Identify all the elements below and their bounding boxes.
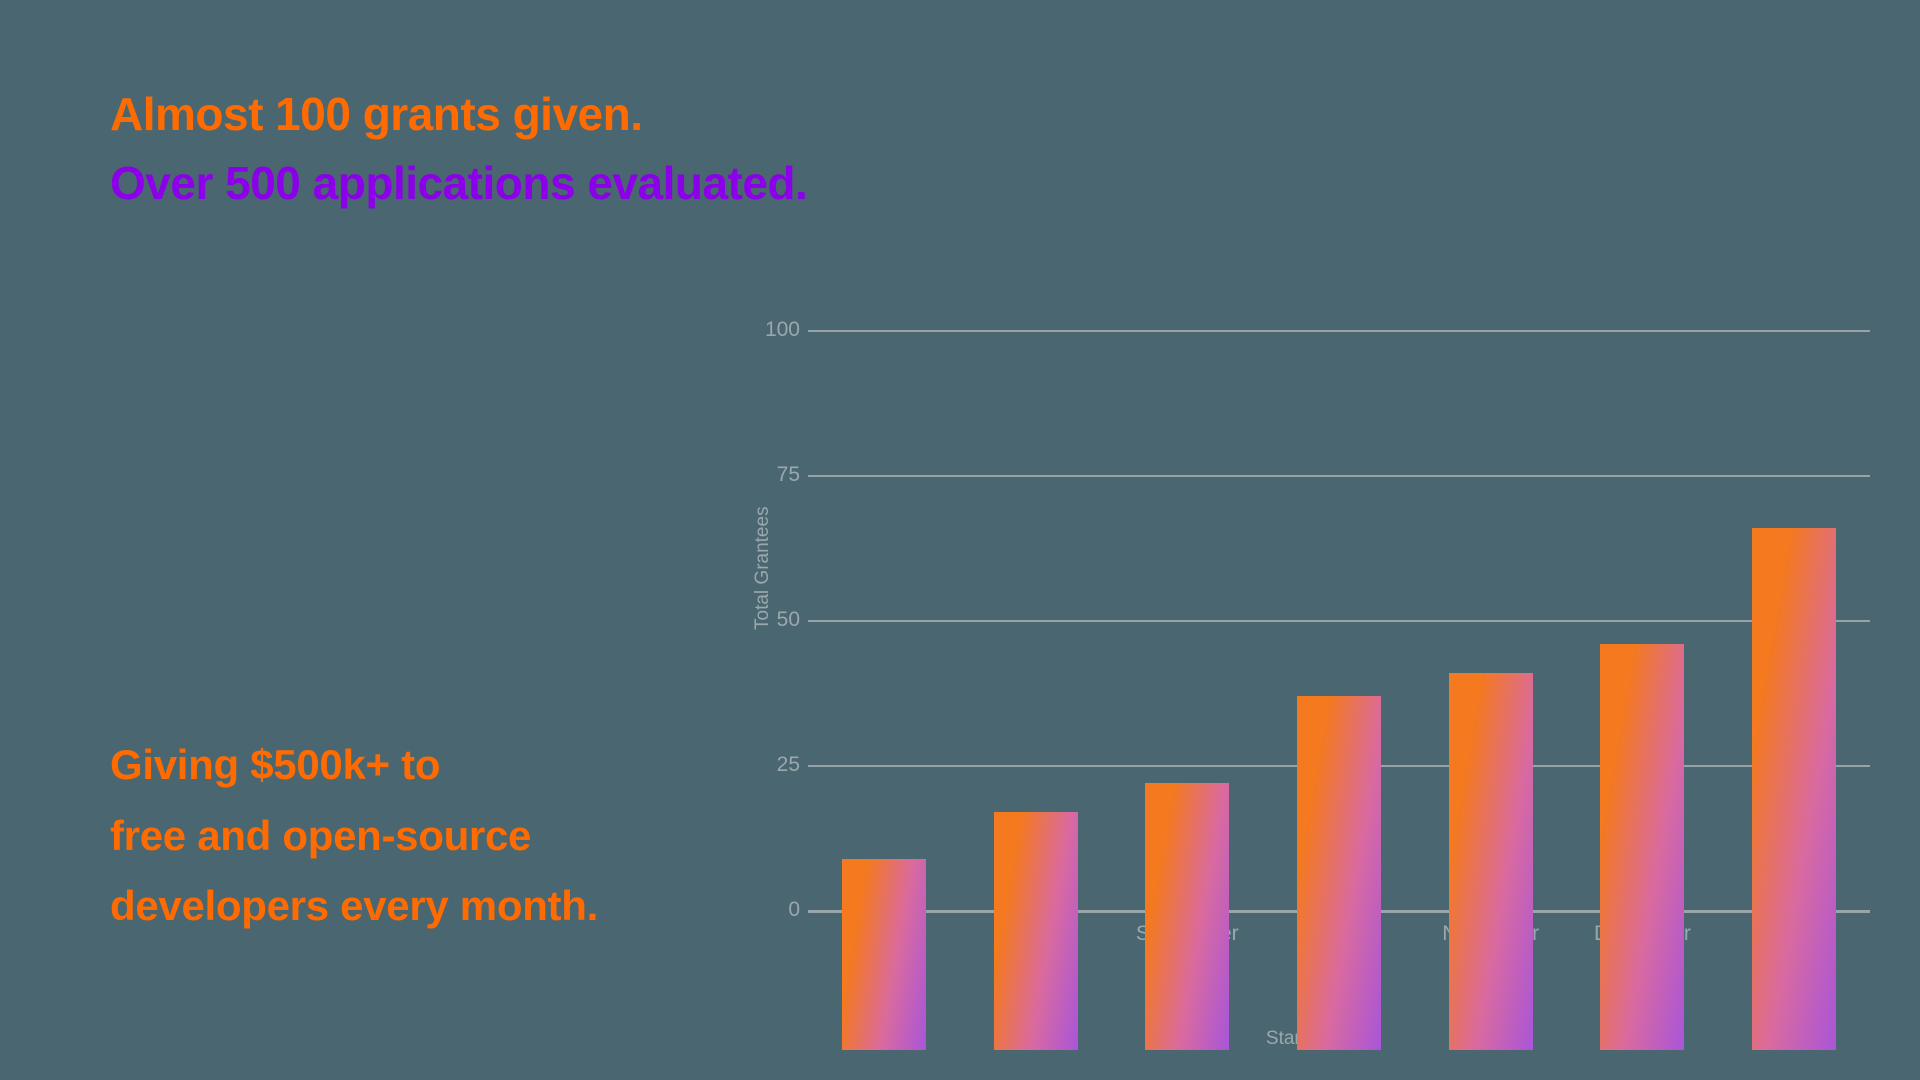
chart-y-tick-label: 100 — [760, 318, 800, 342]
chart-y-tick-label: 75 — [760, 463, 800, 487]
chart-bar[interactable] — [1449, 673, 1533, 1050]
chart-bars-container — [808, 470, 1870, 1050]
chart-bar-slot — [1263, 470, 1415, 1050]
chart-bar[interactable] — [1145, 783, 1229, 1050]
promo-block: Giving $500k+ to free and open-source de… — [110, 730, 790, 942]
chart-bar[interactable] — [1600, 644, 1684, 1050]
chart-bar[interactable] — [1752, 528, 1836, 1050]
chart-gridline — [808, 330, 1870, 332]
chart-y-tick-label: 0 — [760, 898, 800, 922]
promo-line-2: free and open-source — [110, 801, 790, 872]
chart-bar-slot — [1111, 470, 1263, 1050]
headline-block: Almost 100 grants given. Over 500 applic… — [110, 80, 1010, 218]
chart-y-tick-label: 25 — [760, 753, 800, 777]
chart-bar-slot — [1567, 470, 1719, 1050]
headline-line-grants-given: Almost 100 grants given. — [110, 80, 1010, 149]
chart-bar-slot — [1415, 470, 1567, 1050]
promo-line-3: developers every month. — [110, 871, 790, 942]
chart-bar[interactable] — [994, 812, 1078, 1050]
headline-line-applications-evaluated: Over 500 applications evaluated. — [110, 149, 1010, 218]
chart-bar-slot — [960, 470, 1112, 1050]
chart-bar[interactable] — [1297, 696, 1381, 1050]
chart-y-tick-label: 50 — [760, 608, 800, 632]
promo-line-1: Giving $500k+ to — [110, 730, 790, 801]
chart-bar-slot — [1718, 470, 1870, 1050]
chart-bar[interactable] — [842, 859, 926, 1050]
total-grantees-bar-chart: Total Grantees JulyAugustSeptemberOctobe… — [760, 330, 1870, 1050]
chart-bar-slot — [808, 470, 960, 1050]
